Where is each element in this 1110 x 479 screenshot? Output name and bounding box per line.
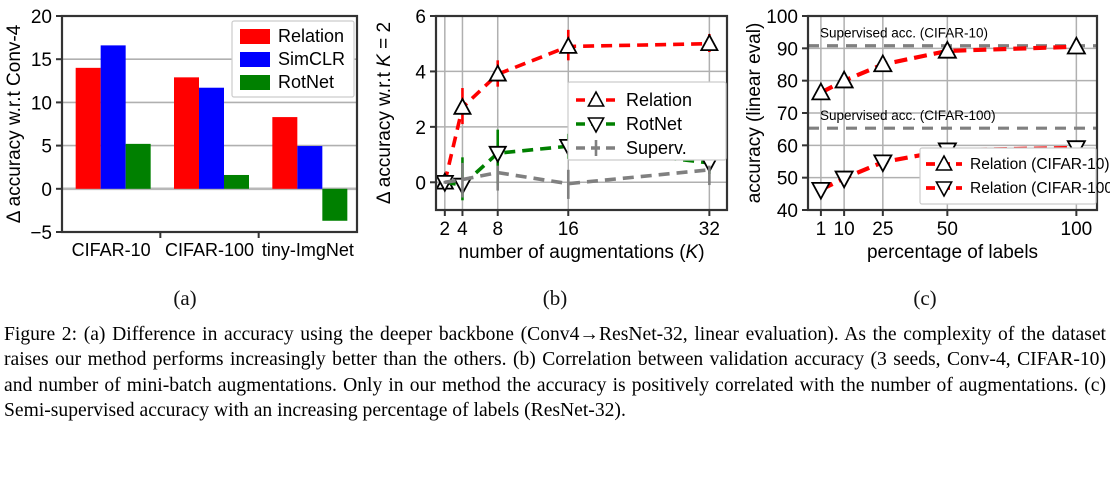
legend-label-superv: Superv. — [626, 138, 687, 158]
xtick-label: 50 — [937, 219, 958, 240]
ytick-label: 40 — [777, 201, 798, 222]
bar-rotnet-tiny-imgnet — [322, 189, 347, 221]
panel-a-chart: −505101520CIFAR-10CIFAR-100tiny-ImgNetΔ … — [0, 0, 370, 290]
marker-relationcifar100 — [836, 172, 853, 188]
legend-swatch-relation — [240, 29, 270, 44]
legend-swatch-rotnet — [240, 75, 270, 90]
legend-swatch-simclr — [240, 52, 270, 67]
bar-simclr-tiny-imgnet — [297, 146, 322, 189]
marker-relation — [454, 99, 470, 114]
legend-label-c-0: Relation (CIFAR-10) — [970, 156, 1110, 173]
panel-b-ylabel: Δ accuracy w.r.t K = 2 — [374, 22, 395, 204]
legend-label-rotnet: RotNet — [278, 72, 334, 92]
ytick-label: 5 — [41, 137, 52, 158]
bar-relation-cifar-100 — [174, 77, 199, 188]
marker-relationcifar10 — [874, 56, 891, 72]
xtick-label: 100 — [1061, 219, 1093, 240]
panel-b-chart: 02462481632number of augmentations (K)Δ … — [370, 0, 740, 290]
figure-2: −505101520CIFAR-10CIFAR-100tiny-ImgNetΔ … — [0, 0, 1110, 479]
panel-a-subcaption: (a) — [0, 286, 370, 311]
ytick-label: 6 — [415, 7, 426, 28]
ytick-label: 80 — [777, 72, 798, 93]
legend-label-simclr: SimCLR — [278, 49, 345, 69]
ytick-label: 4 — [415, 62, 426, 83]
xtick-label: 4 — [457, 219, 468, 240]
ytick-label: 70 — [777, 104, 798, 125]
bar-simclr-cifar-10 — [101, 45, 126, 188]
xtick-label: 10 — [834, 219, 855, 240]
legend-label-relation: Relation — [626, 90, 692, 110]
bar-relation-cifar-10 — [76, 68, 101, 189]
supervised-label-0: Supervised acc. (CIFAR-10) — [820, 26, 988, 41]
panel-c: Supervised acc. (CIFAR-10)Supervised acc… — [740, 0, 1110, 315]
marker-relation — [701, 35, 717, 50]
ytick-label: 20 — [31, 7, 52, 28]
panel-b: 02462481632number of augmentations (K)Δ … — [370, 0, 740, 315]
panel-b-xlabel: number of augmentations (K) — [458, 242, 704, 263]
bar-simclr-cifar-100 — [199, 88, 224, 189]
legend-label-rotnet: RotNet — [626, 114, 682, 134]
ytick-label: 50 — [777, 169, 798, 190]
panel-a-ylabel: Δ accuracy w.r.t Conv-4 — [4, 24, 25, 223]
panel-c-ylabel: accuracy (linear eval) — [744, 23, 765, 204]
xtick-label: CIFAR-10 — [72, 240, 151, 260]
panel-a: −505101520CIFAR-10CIFAR-100tiny-ImgNetΔ … — [0, 0, 370, 315]
xtick-label: 1 — [816, 219, 827, 240]
marker-relationcifar100 — [812, 183, 829, 199]
xtick-label: 8 — [492, 219, 503, 240]
ytick-label: 60 — [777, 136, 798, 157]
xtick-label: 25 — [872, 219, 893, 240]
panel-c-chart: Supervised acc. (CIFAR-10)Supervised acc… — [740, 0, 1110, 290]
figure-caption: Figure 2: (a) Difference in accuracy usi… — [4, 322, 1106, 424]
xtick-label: tiny-ImgNet — [262, 240, 354, 260]
ytick-label: 2 — [415, 118, 426, 139]
panel-c-subcaption: (c) — [740, 286, 1110, 311]
supervised-label-1: Supervised acc. (CIFAR-100) — [820, 108, 996, 123]
panel-c-xlabel: percentage of labels — [867, 242, 1038, 263]
xtick-label: 2 — [440, 219, 451, 240]
ytick-label: 90 — [777, 39, 798, 60]
xtick-label: 32 — [699, 219, 720, 240]
ytick-label: 10 — [31, 93, 52, 114]
bar-rotnet-cifar-10 — [126, 144, 151, 189]
bar-rotnet-cifar-100 — [224, 175, 249, 189]
legend-label-c-1: Relation (CIFAR-100) — [970, 180, 1110, 197]
ytick-label: 0 — [415, 173, 426, 194]
ytick-label: 100 — [766, 7, 798, 28]
ytick-label: 15 — [31, 50, 52, 71]
legend-label-relation: Relation — [278, 26, 344, 46]
ytick-label: −5 — [30, 223, 52, 244]
ytick-label: 0 — [41, 180, 52, 201]
bar-relation-tiny-imgnet — [272, 117, 297, 189]
panel-b-subcaption: (b) — [370, 286, 740, 311]
panels-row: −505101520CIFAR-10CIFAR-100tiny-ImgNetΔ … — [0, 0, 1110, 315]
xtick-label: 16 — [558, 219, 579, 240]
xtick-label: CIFAR-100 — [165, 240, 254, 260]
